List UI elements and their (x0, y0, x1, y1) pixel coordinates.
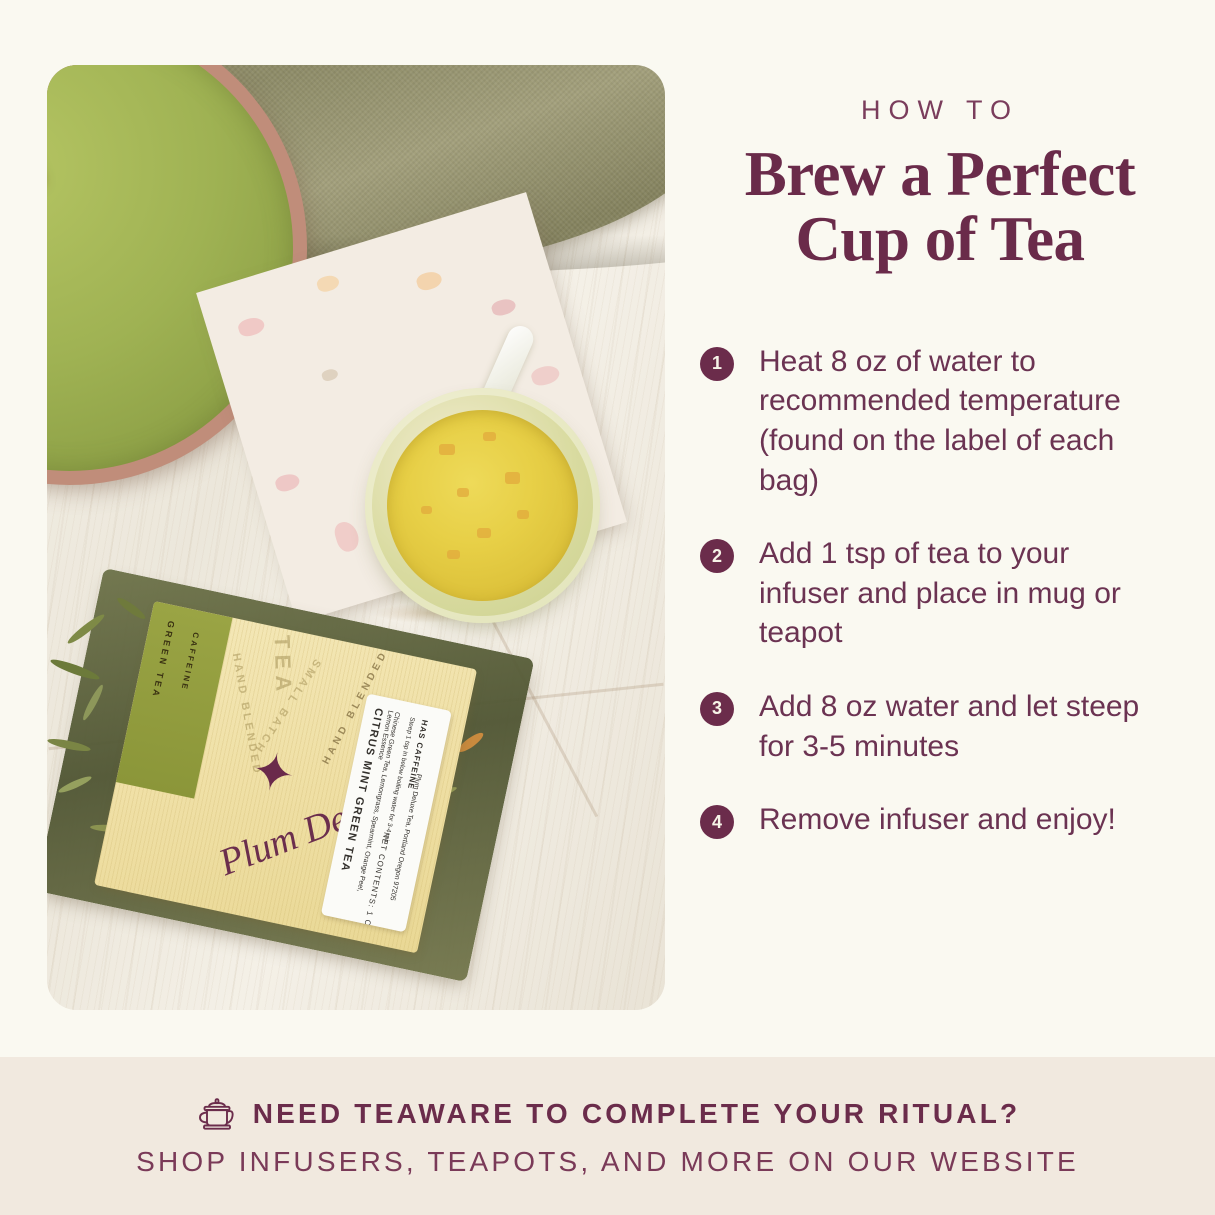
brewed-tea-liquid (387, 410, 578, 601)
step-number-badge: 2 (700, 539, 734, 573)
footer-subline: SHOP INFUSERS, TEAPOTS, AND MORE ON OUR … (136, 1146, 1079, 1178)
title-line-2: Cup of Tea (795, 204, 1084, 274)
step-text: Heat 8 oz of water to recommended temper… (759, 342, 1149, 500)
terrazzo-chip (321, 367, 340, 382)
step-number-badge: 1 (700, 347, 734, 381)
terrazzo-chip (315, 273, 340, 294)
tea-leaf-fleck (457, 488, 469, 497)
tea-leaf-fleck (477, 528, 491, 538)
tea-leaf-fleck (447, 550, 460, 559)
tea-leaf-fleck (439, 444, 455, 455)
green-tea-band-label: GREEN TEA (150, 620, 176, 700)
poster-canvas: GREEN TEA CAFFEINE TEA SMALL BATCH HAND … (0, 0, 1215, 1215)
tea-leaf (115, 595, 147, 621)
instructions-panel: HOW TO Brew a Perfect Cup of Tea 1 Heat … (700, 95, 1180, 874)
teapot-icon (195, 1094, 239, 1134)
step-number-badge: 3 (700, 692, 734, 726)
eyebrow-label: HOW TO (700, 95, 1180, 126)
step-text: Remove infuser and enjoy! (759, 800, 1116, 840)
step-item: 4 Remove infuser and enjoy! (700, 800, 1180, 840)
step-item: 1 Heat 8 oz of water to recommended temp… (700, 342, 1180, 500)
caffeine-band-label: CAFFEINE (179, 631, 200, 692)
tea-leaf-fleck (517, 510, 529, 519)
step-number-badge: 4 (700, 805, 734, 839)
step-item: 3 Add 8 oz water and let steep for 3-5 m… (700, 687, 1180, 766)
step-text: Add 8 oz water and let steep for 3-5 min… (759, 687, 1149, 766)
step-item: 2 Add 1 tsp of tea to your infuser and p… (700, 534, 1180, 653)
steps-list: 1 Heat 8 oz of water to recommended temp… (700, 342, 1180, 840)
page-title: Brew a Perfect Cup of Tea (700, 142, 1180, 272)
tea-leaf-fleck (421, 506, 432, 514)
tea-leaf-fleck (505, 472, 520, 484)
footer-cta-banner[interactable]: NEED TEAWARE TO COMPLETE YOUR RITUAL? SH… (0, 1057, 1215, 1215)
plum-deluxe-logo-icon: ✦ (244, 743, 321, 815)
hero-photo: GREEN TEA CAFFEINE TEA SMALL BATCH HAND … (47, 65, 665, 1010)
glass-teacup (365, 388, 600, 623)
terrazzo-chip (415, 269, 444, 293)
terrazzo-chip (529, 363, 561, 388)
title-line-1: Brew a Perfect (745, 139, 1136, 209)
terrazzo-chip (332, 519, 362, 554)
terrazzo-chip (490, 296, 517, 317)
footer-headline: NEED TEAWARE TO COMPLETE YOUR RITUAL? (253, 1098, 1021, 1130)
step-text: Add 1 tsp of tea to your infuser and pla… (759, 534, 1149, 653)
terrazzo-chip (236, 315, 266, 339)
footer-primary-row: NEED TEAWARE TO COMPLETE YOUR RITUAL? (195, 1094, 1021, 1134)
terrazzo-chip (274, 471, 302, 493)
tea-leaf-fleck (483, 432, 496, 441)
